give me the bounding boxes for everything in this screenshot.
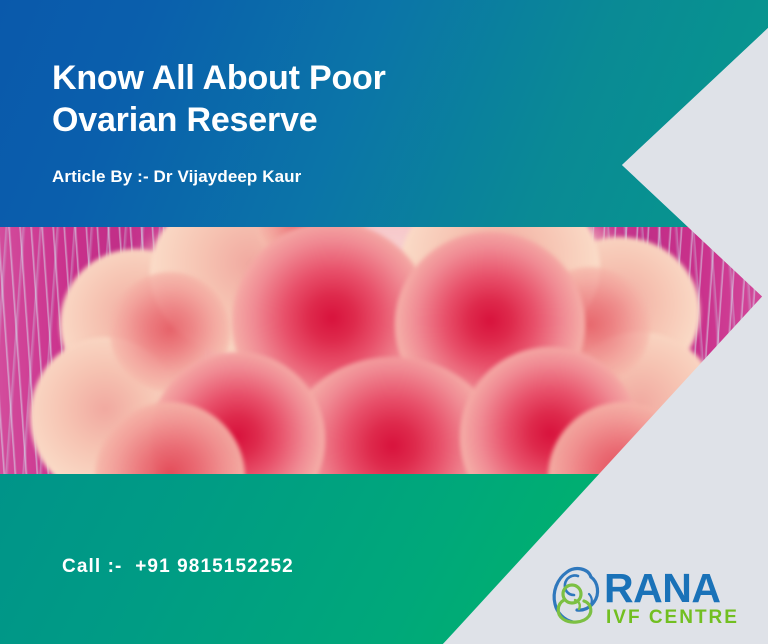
call-to-action-phone[interactable]: Call :- +91 9815152252: [62, 556, 294, 578]
header-band: Know All About Poor Ovarian Reserve Arti…: [0, 0, 768, 227]
brand-logo[interactable]: RANA IVF CENTRE: [548, 562, 754, 632]
page-title-line-2: Ovarian Reserve: [52, 99, 612, 141]
logo-name: RANA: [604, 566, 720, 610]
page-title: Know All About Poor Ovarian Reserve: [52, 57, 612, 141]
article-banner: Know All About Poor Ovarian Reserve Arti…: [0, 0, 768, 644]
page-title-line-1: Know All About Poor: [52, 57, 612, 99]
byline: Article By :- Dr Vijaydeep Kaur: [52, 167, 301, 187]
logo-text: RANA IVF CENTRE: [604, 566, 754, 628]
logo-tagline: IVF CENTRE: [606, 608, 739, 628]
hero-image: [0, 227, 768, 474]
mother-and-baby-icon: [548, 564, 610, 626]
